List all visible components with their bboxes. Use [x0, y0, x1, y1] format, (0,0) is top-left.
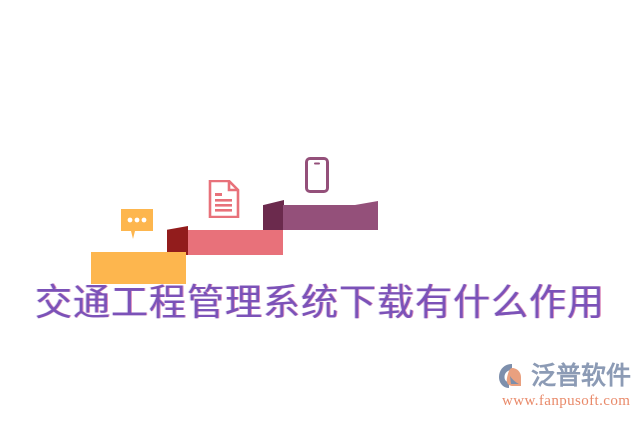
- step-mid-top-face: [188, 230, 283, 255]
- brand-name: 泛普软件: [531, 362, 631, 390]
- step-mid-side-face: [167, 226, 188, 255]
- step-high-right-notch: [355, 201, 378, 230]
- step-high-top-face: [283, 205, 355, 230]
- mobile-phone-icon: [305, 157, 329, 193]
- brand-url: www.fanpusoft.com: [502, 392, 630, 410]
- document-icon: [208, 180, 240, 218]
- page-title: 交通工程管理系统下载有什么作用: [0, 282, 640, 326]
- step-high-side-face: [263, 200, 284, 230]
- step-low-top-face: [91, 255, 186, 284]
- brand-watermark: 泛普软件 www.fanpusoft.com: [498, 360, 632, 418]
- brand-watermark-row: 泛普软件: [498, 360, 631, 392]
- fanpu-logo-icon: [498, 362, 528, 390]
- chat-bubble-icon: [121, 209, 153, 244]
- staircase-illustration: [0, 0, 640, 300]
- poster-canvas: 交通工程管理系统下载有什么作用 泛普软件 www.fanpusoft.com: [0, 0, 640, 427]
